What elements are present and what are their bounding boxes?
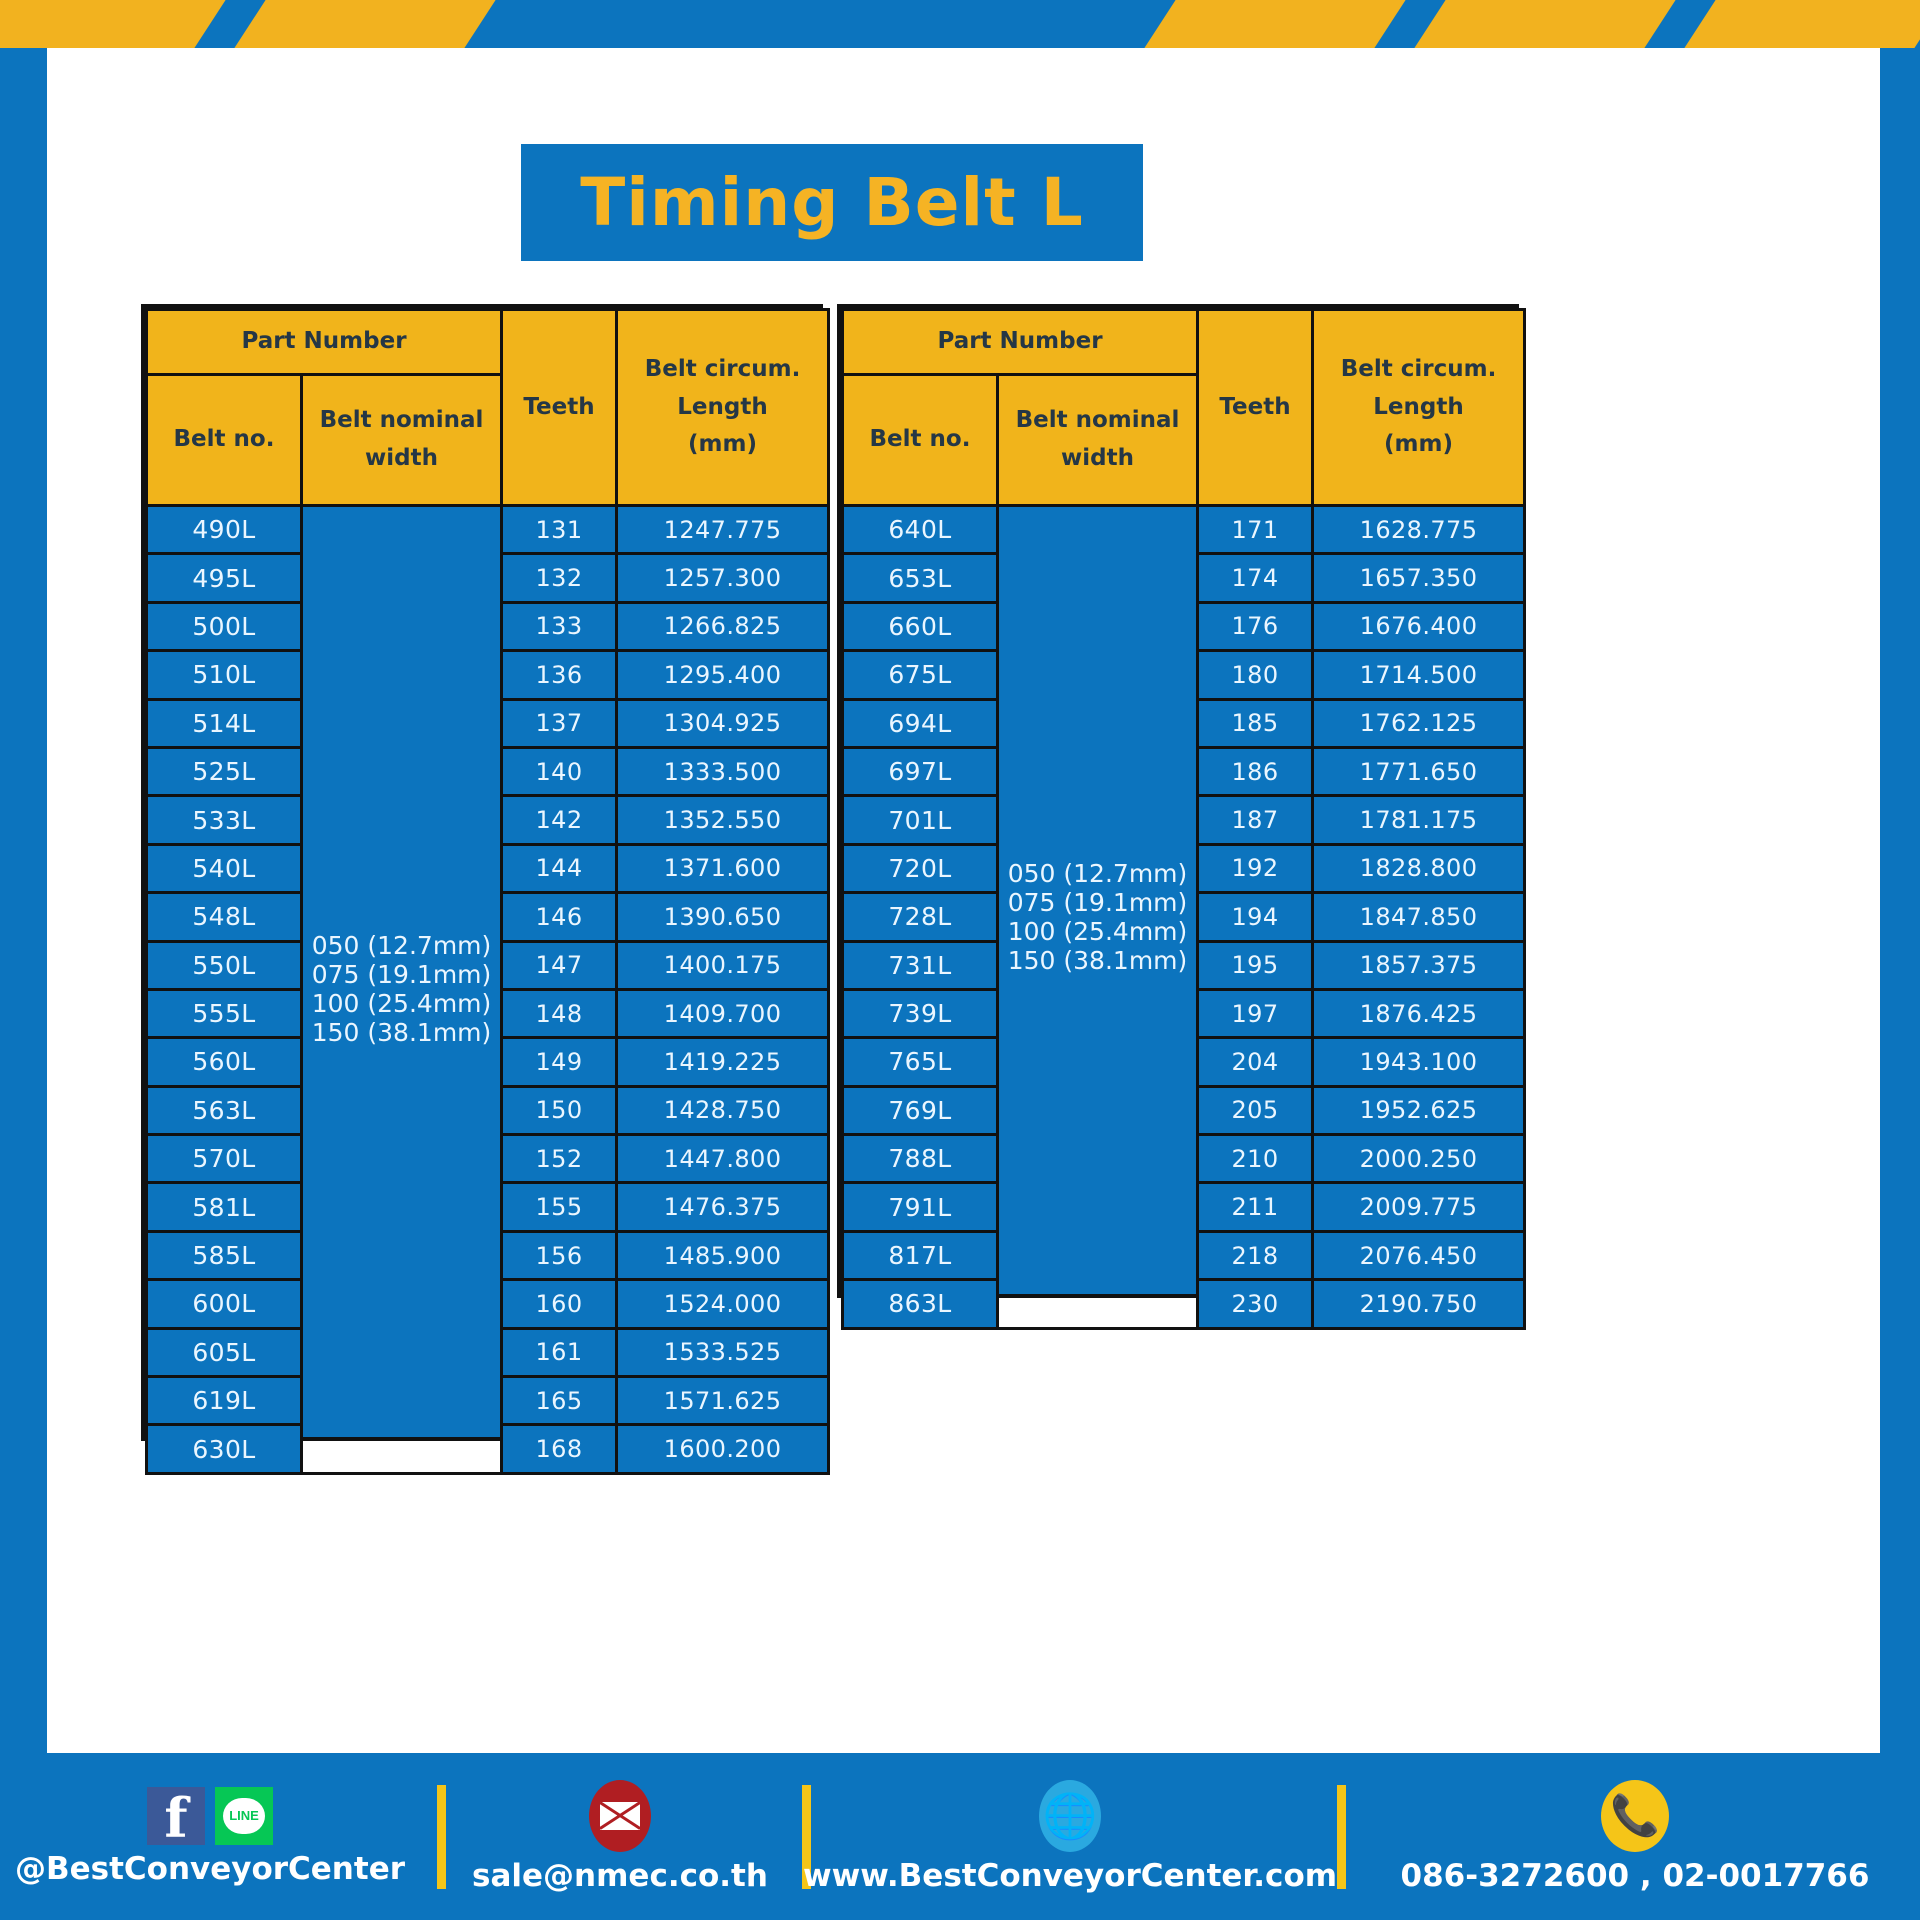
cell-teeth: 194: [1198, 893, 1313, 941]
line-icon[interactable]: LINE: [215, 1787, 273, 1845]
cell-belt-no: 697L: [843, 747, 998, 795]
cell-belt-no: 739L: [843, 989, 998, 1037]
header-belt-no: Belt no.: [147, 375, 302, 506]
cell-belt-no: 510L: [147, 651, 302, 699]
cell-length: 1847.850: [1313, 893, 1525, 941]
cell-length: 1762.125: [1313, 699, 1525, 747]
header-belt-no: Belt no.: [843, 375, 998, 506]
header-belt-circum-line3: (mm): [618, 426, 827, 464]
cell-length: 1571.625: [617, 1377, 829, 1425]
footer-divider: [437, 1785, 446, 1889]
cell-teeth: 187: [1198, 796, 1313, 844]
cell-length: 1447.800: [617, 1135, 829, 1183]
header-belt-circum-line2: Length: [618, 389, 827, 427]
cell-length: 1828.800: [1313, 844, 1525, 892]
cell-length: 1419.225: [617, 1038, 829, 1086]
cell-length: 1476.375: [617, 1183, 829, 1231]
cell-belt-no: 640L: [843, 506, 998, 554]
cell-belt-no: 581L: [147, 1183, 302, 1231]
cell-teeth: 197: [1198, 989, 1313, 1037]
footer-website-group[interactable]: 🌐 www.BestConveyorCenter.com: [820, 1753, 1320, 1920]
cell-teeth: 142: [502, 796, 617, 844]
table-right-head: Part Number Teeth Belt circum. Length (m…: [843, 310, 1525, 506]
cell-length: 1400.175: [617, 941, 829, 989]
cell-belt-no: 769L: [843, 1086, 998, 1134]
header-belt-nominal-line1: Belt nominal: [999, 402, 1196, 440]
cell-length: 1533.525: [617, 1328, 829, 1376]
page-title: Timing Belt L: [580, 164, 1084, 241]
cell-length: 1628.775: [1313, 506, 1525, 554]
cell-teeth: 146: [502, 893, 617, 941]
cell-teeth: 168: [502, 1425, 617, 1473]
cell-teeth: 165: [502, 1377, 617, 1425]
cell-belt-no: 630L: [147, 1425, 302, 1473]
cell-length: 1390.650: [617, 893, 829, 941]
cell-belt-no: 701L: [843, 796, 998, 844]
header-row-top: Part Number Teeth Belt circum. Length (m…: [843, 310, 1525, 375]
cell-length: 1876.425: [1313, 989, 1525, 1037]
cell-length: 1676.400: [1313, 602, 1525, 650]
cell-belt-no: 525L: [147, 747, 302, 795]
header-belt-circum-length: Belt circum. Length (mm): [617, 310, 829, 506]
cell-belt-no: 585L: [147, 1231, 302, 1279]
cell-belt-no: 533L: [147, 796, 302, 844]
cell-length: 2076.450: [1313, 1231, 1525, 1279]
width-option-1: 075 (19.1mm): [1008, 888, 1188, 917]
line-icon-label: LINE: [229, 1808, 259, 1823]
cell-belt-no: 600L: [147, 1280, 302, 1328]
cell-length: 1943.100: [1313, 1038, 1525, 1086]
cell-length: 1257.300: [617, 554, 829, 602]
cell-belt-no: 728L: [843, 893, 998, 941]
stripe-decoration: [1681, 0, 1920, 48]
cell-belt-no: 514L: [147, 699, 302, 747]
cell-belt-no: 490L: [147, 506, 302, 554]
cell-belt-no: 555L: [147, 989, 302, 1037]
width-option-0: 050 (12.7mm): [1008, 859, 1188, 888]
header-row-top: Part Number Teeth Belt circum. Length (m…: [147, 310, 829, 375]
cell-teeth: 186: [1198, 747, 1313, 795]
header-belt-circum-line1: Belt circum.: [1314, 351, 1523, 389]
header-belt-circum-length: Belt circum. Length (mm): [1313, 310, 1525, 506]
table-row: 490L050 (12.7mm)075 (19.1mm)100 (25.4mm)…: [147, 506, 829, 554]
cell-teeth: 156: [502, 1231, 617, 1279]
cell-belt-no: 817L: [843, 1231, 998, 1279]
cell-teeth: 160: [502, 1280, 617, 1328]
cell-teeth: 150: [502, 1086, 617, 1134]
cell-belt-no: 731L: [843, 941, 998, 989]
globe-icon[interactable]: 🌐: [1039, 1780, 1101, 1852]
cell-belt-no: 570L: [147, 1135, 302, 1183]
footer-phone-icons: 📞: [1601, 1780, 1669, 1852]
cell-length: 2190.750: [1313, 1280, 1525, 1328]
header-belt-nominal-width: Belt nominal width: [302, 375, 502, 506]
cell-teeth: 218: [1198, 1231, 1313, 1279]
cell-belt-no: 495L: [147, 554, 302, 602]
cell-belt-no: 619L: [147, 1377, 302, 1425]
footer-phone-group[interactable]: 📞 086-3272600 , 02-0017766: [1355, 1753, 1915, 1920]
cell-length: 1428.750: [617, 1086, 829, 1134]
cell-teeth: 132: [502, 554, 617, 602]
cell-teeth: 192: [1198, 844, 1313, 892]
footer-email-group[interactable]: sale@nmec.co.th: [455, 1753, 785, 1920]
cell-length: 2000.250: [1313, 1135, 1525, 1183]
cell-length: 1266.825: [617, 602, 829, 650]
stripe-decoration: [1141, 0, 1410, 48]
cell-length: 1304.925: [617, 699, 829, 747]
table-left-body: 490L050 (12.7mm)075 (19.1mm)100 (25.4mm)…: [147, 506, 829, 1474]
cell-teeth: 155: [502, 1183, 617, 1231]
width-option-2: 100 (25.4mm): [1008, 917, 1188, 946]
footer-divider: [1337, 1785, 1346, 1889]
cell-belt-no: 863L: [843, 1280, 998, 1328]
cell-teeth: 131: [502, 506, 617, 554]
header-part-number: Part Number: [147, 310, 502, 375]
footer-website-icons: 🌐: [1039, 1780, 1101, 1852]
cell-teeth: 147: [502, 941, 617, 989]
header-belt-nominal-line2: width: [999, 440, 1196, 478]
cell-teeth: 152: [502, 1135, 617, 1183]
header-belt-nominal-width: Belt nominal width: [998, 375, 1198, 506]
cell-length: 1485.900: [617, 1231, 829, 1279]
width-option-1: 075 (19.1mm): [312, 960, 492, 989]
timing-belt-table-left: Part Number Teeth Belt circum. Length (m…: [141, 304, 823, 1441]
cell-length: 1371.600: [617, 844, 829, 892]
cell-teeth: 144: [502, 844, 617, 892]
table-right: Part Number Teeth Belt circum. Length (m…: [841, 308, 1526, 1330]
cell-length: 1714.500: [1313, 651, 1525, 699]
header-belt-circum-line1: Belt circum.: [618, 351, 827, 389]
cell-length: 1247.775: [617, 506, 829, 554]
cell-length: 1600.200: [617, 1425, 829, 1473]
width-option-2: 100 (25.4mm): [312, 989, 492, 1018]
cell-teeth: 210: [1198, 1135, 1313, 1183]
cell-length: 1771.650: [1313, 747, 1525, 795]
cell-belt-no: 540L: [147, 844, 302, 892]
top-decorative-band: [0, 0, 1920, 48]
header-teeth: Teeth: [502, 310, 617, 506]
cell-belt-no: 788L: [843, 1135, 998, 1183]
footer-website-label: www.BestConveyorCenter.com: [803, 1858, 1337, 1894]
table-left-head: Part Number Teeth Belt circum. Length (m…: [147, 310, 829, 506]
cell-belt-nominal-width: 050 (12.7mm)075 (19.1mm)100 (25.4mm)150 …: [998, 506, 1198, 1329]
cell-length: 1409.700: [617, 989, 829, 1037]
cell-belt-no: 660L: [843, 602, 998, 650]
cell-length: 1333.500: [617, 747, 829, 795]
cell-belt-no: 791L: [843, 1183, 998, 1231]
cell-belt-no: 563L: [147, 1086, 302, 1134]
width-option-3: 150 (38.1mm): [312, 1018, 492, 1047]
footer-contact-bar: f LINE @BestConveyorCenter sale@nmec.co.…: [0, 1753, 1920, 1920]
cell-teeth: 137: [502, 699, 617, 747]
cell-length: 1857.375: [1313, 941, 1525, 989]
cell-teeth: 149: [502, 1038, 617, 1086]
cell-teeth: 195: [1198, 941, 1313, 989]
header-belt-circum-line2: Length: [1314, 389, 1523, 427]
cell-length: 1524.000: [617, 1280, 829, 1328]
cell-belt-nominal-width: 050 (12.7mm)075 (19.1mm)100 (25.4mm)150 …: [302, 506, 502, 1474]
header-belt-circum-line3: (mm): [1314, 426, 1523, 464]
cell-belt-no: 560L: [147, 1038, 302, 1086]
cell-teeth: 230: [1198, 1280, 1313, 1328]
cell-length: 1952.625: [1313, 1086, 1525, 1134]
cell-belt-no: 500L: [147, 602, 302, 650]
cell-teeth: 148: [502, 989, 617, 1037]
table-left: Part Number Teeth Belt circum. Length (m…: [145, 308, 830, 1475]
cell-length: 1781.175: [1313, 796, 1525, 844]
header-part-number: Part Number: [843, 310, 1198, 375]
footer-email-label: sale@nmec.co.th: [472, 1858, 768, 1894]
stripe-decoration: [0, 0, 229, 48]
facebook-icon[interactable]: f: [147, 1787, 205, 1845]
cell-belt-no: 550L: [147, 941, 302, 989]
width-option-0: 050 (12.7mm): [312, 931, 492, 960]
footer-social-icons: f LINE: [147, 1787, 273, 1845]
cell-teeth: 140: [502, 747, 617, 795]
page-title-box: Timing Belt L: [521, 144, 1143, 261]
footer-social-label: @BestConveyorCenter: [15, 1851, 405, 1887]
cell-length: 1657.350: [1313, 554, 1525, 602]
table-right-body: 640L050 (12.7mm)075 (19.1mm)100 (25.4mm)…: [843, 506, 1525, 1329]
page-card: Timing Belt L Part Number Teeth Belt cir…: [47, 48, 1880, 1753]
cell-teeth: 171: [1198, 506, 1313, 554]
footer-social-group[interactable]: f LINE @BestConveyorCenter: [0, 1753, 420, 1920]
cell-teeth: 176: [1198, 602, 1313, 650]
cell-belt-no: 765L: [843, 1038, 998, 1086]
cell-teeth: 205: [1198, 1086, 1313, 1134]
header-teeth: Teeth: [1198, 310, 1313, 506]
cell-belt-no: 605L: [147, 1328, 302, 1376]
width-option-3: 150 (38.1mm): [1008, 946, 1188, 975]
cell-length: 1352.550: [617, 796, 829, 844]
cell-teeth: 161: [502, 1328, 617, 1376]
cell-teeth: 211: [1198, 1183, 1313, 1231]
cell-belt-no: 720L: [843, 844, 998, 892]
cell-length: 1295.400: [617, 651, 829, 699]
table-row: 640L050 (12.7mm)075 (19.1mm)100 (25.4mm)…: [843, 506, 1525, 554]
cell-belt-no: 548L: [147, 893, 302, 941]
cell-teeth: 185: [1198, 699, 1313, 747]
footer-phone-label: 086-3272600 , 02-0017766: [1401, 1858, 1870, 1894]
stripe-decoration: [231, 0, 500, 48]
cell-teeth: 133: [502, 602, 617, 650]
cell-teeth: 180: [1198, 651, 1313, 699]
stripe-decoration: [1411, 0, 1680, 48]
cell-belt-no: 694L: [843, 699, 998, 747]
cell-belt-no: 675L: [843, 651, 998, 699]
footer-email-icons: [589, 1780, 651, 1852]
cell-teeth: 136: [502, 651, 617, 699]
header-belt-nominal-line1: Belt nominal: [303, 402, 500, 440]
cell-belt-no: 653L: [843, 554, 998, 602]
header-belt-nominal-line2: width: [303, 440, 500, 478]
phone-icon[interactable]: 📞: [1601, 1780, 1669, 1852]
timing-belt-table-right: Part Number Teeth Belt circum. Length (m…: [837, 304, 1519, 1298]
cell-length: 2009.775: [1313, 1183, 1525, 1231]
cell-teeth: 174: [1198, 554, 1313, 602]
cell-teeth: 204: [1198, 1038, 1313, 1086]
email-icon[interactable]: [589, 1780, 651, 1852]
